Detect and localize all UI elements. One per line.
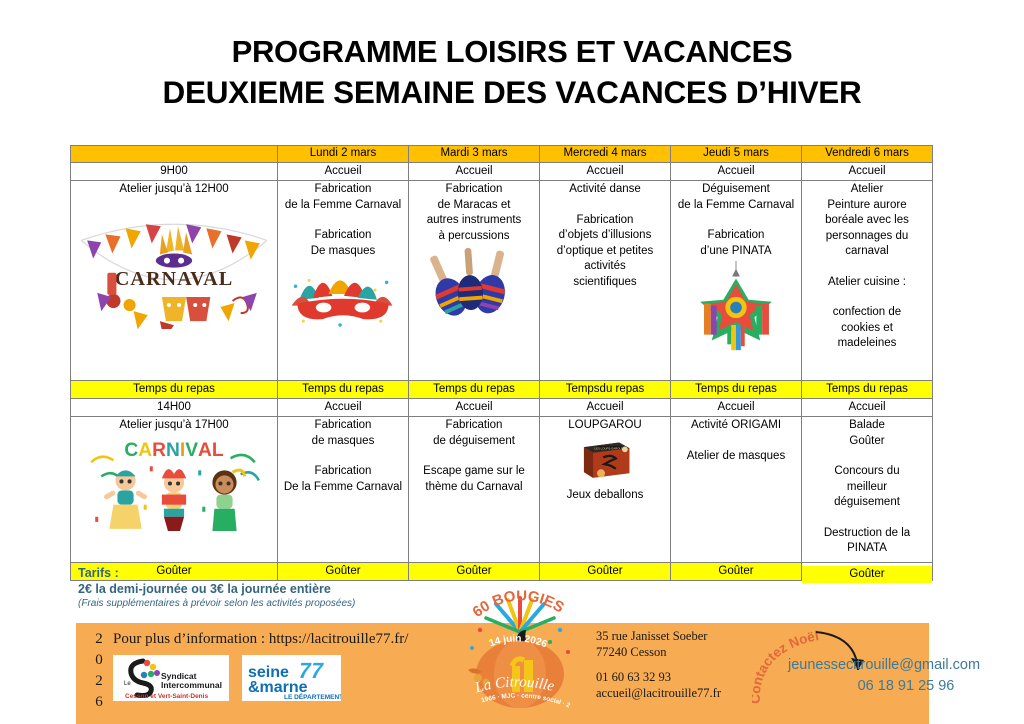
table-header-row: Lundi 2 mars Mardi 3 mars Mercredi 4 mar… (71, 146, 933, 163)
morning-vendredi-line-2: boréale avec les (804, 213, 930, 229)
morning-time-label: 9H00 (71, 163, 278, 181)
morning-greeting-mardi: Accueil (409, 163, 540, 181)
morning-vendredi-line-0: Atelier (804, 182, 930, 198)
afternoon-vendredi-spacer-2 (804, 511, 930, 526)
syndicat-logo-line3: Intercommunal (161, 680, 222, 690)
morning-cell-lundi: Fabrication de la Femme Carnaval Fabrica… (278, 181, 409, 381)
afternoon-greeting-mardi: Accueil (409, 399, 540, 417)
morning-greeting-mercredi: Accueil (540, 163, 671, 181)
afternoon-mercredi-line-0: LOUPGAROU (542, 418, 668, 434)
afternoon-jeudi-line-2: Atelier de masques (673, 449, 799, 465)
program-table: Lundi 2 mars Mardi 3 mars Mercredi 4 mar… (70, 145, 933, 581)
afternoon-time-sub: Atelier jusqu’à 17H00 (73, 418, 275, 434)
contact-email[interactable]: jeunessecitrouille@gmail.com (788, 655, 1024, 676)
afternoon-mardi-spacer (411, 449, 537, 464)
afternoon-cell-mercredi: LOUPGAROU LES LOUPS-GAROUS Jeux deballon… (540, 417, 671, 563)
title-line-1: PROGRAMME LOISIRS ET VACANCES (0, 32, 1024, 72)
meal-cell-mercredi: Tempsdu repas (540, 381, 671, 399)
afternoon-greeting-mercredi: Accueil (540, 399, 671, 417)
morning-cell-jeudi: Déguisement de la Femme Carnaval Fabrica… (671, 181, 802, 381)
morning-mercredi-line-6: scientifiques (542, 275, 668, 291)
morning-mardi-line-2: autres instruments (411, 213, 537, 229)
meal-cell-jeudi: Temps du repas (671, 381, 802, 399)
morning-greeting-lundi: Accueil (278, 163, 409, 181)
page-title: PROGRAMME LOISIRS ET VACANCES DEUXIEME S… (0, 32, 1024, 112)
morning-lundi-spacer (280, 213, 406, 228)
morning-mercredi-line-5: activités (542, 259, 668, 275)
morning-mercredi-line-3: d’objets d’illusions (542, 228, 668, 244)
header-cell-mercredi: Mercredi 4 mars (540, 146, 671, 163)
meal-cell-vendredi: Temps du repas (802, 381, 933, 399)
afternoon-lundi-line-1: de masques (280, 434, 406, 450)
maracas-illustration (411, 246, 537, 327)
header-cell-lundi: Lundi 2 mars (278, 146, 409, 163)
afternoon-cell-lundi: Fabrication de masques Fabrication De la… (278, 417, 409, 563)
afternoon-vendredi-line-0: Balade (804, 418, 930, 434)
afternoon-lundi-spacer (280, 449, 406, 464)
footer-year-digit-2: 2 (86, 671, 112, 692)
morning-cell-mercredi: Activité danse Fabrication d’objets d’il… (540, 181, 671, 381)
footer-year-digit-1: 0 (86, 650, 112, 671)
afternoon-vendredi-line-1: Goûter (804, 434, 930, 450)
tarifs-block: Tarifs : 2€ la demi-journée ou 3€ la jou… (78, 565, 498, 611)
header-cell-vendredi: Vendredi 6 mars (802, 146, 933, 163)
afternoon-lundi-line-0: Fabrication (280, 418, 406, 434)
morning-mercredi-line-4: d’optique et petites (542, 244, 668, 260)
afternoon-mardi-line-0: Fabrication (411, 418, 537, 434)
partner-logos: Le Syndicat Intercommunal Cesson et Vert… (113, 655, 341, 701)
address-phone: 01 60 63 32 93 (596, 669, 721, 685)
address-street: 35 rue Janisset Soeber (596, 628, 721, 644)
morning-mercredi-line-0: Activité danse (542, 182, 668, 198)
morning-jeudi-line-4: d’une PINATA (673, 244, 799, 260)
tarifs-note: (Frais supplémentaires à prévoir selon l… (78, 597, 498, 611)
morning-mercredi-spacer (542, 198, 668, 213)
footer-year: 2 0 2 6 (86, 629, 112, 713)
svg-text:CARNAVAL: CARNAVAL (115, 267, 233, 289)
carnival-kids-illustration: CARNIVAL (73, 436, 275, 537)
header-cell-time (71, 146, 278, 163)
seine-et-marne-logo: seine &marne 77 LE DÉPARTEMENT (242, 655, 341, 701)
morning-cell-mardi: Fabrication de Maracas et autres instrum… (409, 181, 540, 381)
morning-lundi-line-4: De masques (280, 244, 406, 260)
morning-vendredi-line-9: madeleines (804, 336, 930, 352)
meal-cell-lundi: Temps du repas (278, 381, 409, 399)
morning-vendredi-line-6: Atelier cuisine : (804, 275, 930, 291)
morning-vendredi-line-8: cookies et (804, 321, 930, 337)
morning-mardi-line-1: de Maracas et (411, 198, 537, 214)
morning-mercredi-line-2: Fabrication (542, 213, 668, 229)
address-city: 77240 Cesson (596, 644, 721, 660)
syndicat-logo-line1: Le (124, 681, 131, 687)
afternoon-vendredi-line-3: Concours du (804, 464, 930, 480)
afternoon-lundi-line-4: De la Femme Carnaval (280, 480, 406, 496)
morning-jeudi-line-1: de la Femme Carnaval (673, 198, 799, 214)
afternoon-jeudi-line-0: Activité ORIGAMI (673, 418, 799, 434)
snack-cell-jeudi: Goûter (671, 563, 802, 581)
afternoon-vendredi-line-4: meilleur (804, 480, 930, 496)
svg-text:CARNIVAL: CARNIVAL (124, 440, 223, 461)
morning-cell-vendredi: Atelier Peinture aurore boréale avec les… (802, 181, 933, 381)
afternoon-activities-row: Atelier jusqu’à 17H00 CARNIVAL (71, 417, 933, 563)
seine-logo-line3: LE DÉPARTEMENT (284, 692, 341, 701)
address-email[interactable]: accueil@lacitrouille77.fr (596, 685, 721, 701)
afternoon-vendredi-line-5: déguisement (804, 495, 930, 511)
afternoon-cell-vendredi: Balade Goûter Concours du meilleur dégui… (802, 417, 933, 563)
carnival-mask-illustration (280, 261, 406, 329)
header-cell-jeudi: Jeudi 5 mars (671, 146, 802, 163)
morning-vendredi-line-1: Peinture aurore (804, 198, 930, 214)
morning-mardi-line-0: Fabrication (411, 182, 537, 198)
morning-lundi-line-3: Fabrication (280, 228, 406, 244)
tarifs-price: 2€ la demi-journée ou 3€ la journée enti… (78, 581, 498, 597)
afternoon-mardi-line-4: thème du Carnaval (411, 480, 537, 496)
title-line-2: DEUXIEME SEMAINE DES VACANCES D’HIVER (0, 72, 1024, 112)
morning-vendredi-line-7: confection de (804, 305, 930, 321)
morning-vendredi-line-3: personnages du (804, 229, 930, 245)
morning-greeting-jeudi: Accueil (671, 163, 802, 181)
afternoon-vendredi-line-7: Destruction de la (804, 526, 930, 542)
contact-details: jeunessecitrouille@gmail.com 06 18 91 25… (788, 655, 1024, 697)
afternoon-cell-jeudi: Activité ORIGAMI Atelier de masques (671, 417, 802, 563)
afternoon-mardi-line-1: de déguisement (411, 434, 537, 450)
afternoon-greeting-row: 14H00 Accueil Accueil Accueil Accueil Ac… (71, 399, 933, 417)
meal-cell-time: Temps du repas (71, 381, 278, 399)
afternoon-jeudi-spacer (673, 434, 799, 449)
footer-info-link[interactable]: Pour plus d’information : https://lacitr… (113, 631, 408, 648)
morning-time-sub: Atelier jusqu’à 12H00 (73, 182, 275, 198)
morning-vendredi-spacer-2 (804, 290, 930, 305)
morning-greeting-row: 9H00 Accueil Accueil Accueil Accueil Acc… (71, 163, 933, 181)
address-gap (596, 660, 721, 669)
afternoon-greeting-jeudi: Accueil (671, 399, 802, 417)
morning-vendredi-spacer (804, 260, 930, 275)
address-block: 35 rue Janisset Soeber 77240 Cesson 01 6… (596, 628, 721, 701)
morning-vendredi-line-4: carnaval (804, 244, 930, 260)
afternoon-mercredi-line-after-0: Jeux deballons (542, 488, 668, 504)
meal-row: Temps du repas Temps du repas Temps du r… (71, 381, 933, 399)
meal-cell-mardi: Temps du repas (409, 381, 540, 399)
footer-year-digit-3: 6 (86, 692, 112, 713)
afternoon-vendredi-line-8: PINATA (804, 541, 930, 557)
carnaval-banner-illustration: CARNAVAL (73, 200, 275, 329)
syndicat-intercommunal-logo: Le Syndicat Intercommunal Cesson et Vert… (113, 655, 229, 701)
afternoon-time-cell: Atelier jusqu’à 17H00 CARNIVAL (71, 417, 278, 563)
afternoon-greeting-vendredi: Accueil (802, 399, 933, 417)
morning-activities-row: Atelier jusqu’à 12H00 (71, 181, 933, 381)
afternoon-lundi-line-3: Fabrication (280, 464, 406, 480)
contact-phone: 06 18 91 25 96 (788, 676, 1024, 697)
footer-year-digit-0: 2 (86, 629, 112, 650)
morning-lundi-line-0: Fabrication (280, 182, 406, 198)
morning-lundi-line-1: de la Femme Carnaval (280, 198, 406, 214)
afternoon-vendredi-spacer (804, 449, 930, 464)
afternoon-mardi-line-3: Escape game sur le (411, 464, 537, 480)
morning-greeting-vendredi: Accueil (802, 163, 933, 181)
pinata-illustration (673, 261, 799, 354)
morning-jeudi-line-0: Déguisement (673, 182, 799, 198)
afternoon-cell-mardi: Fabrication de déguisement Escape game s… (409, 417, 540, 563)
loup-garou-game-box: LES LOUPS-GAROUS (568, 438, 642, 480)
morning-jeudi-line-3: Fabrication (673, 228, 799, 244)
svg-text:LES LOUPS-GAROUS: LES LOUPS-GAROUS (595, 446, 624, 450)
afternoon-time-label: 14H00 (71, 399, 278, 417)
bougies-citrouille-logo: 60 BOUGIES 14 juin 2026 La Citrouille 19… (452, 578, 588, 718)
syndicat-logo-line4: Cesson et Vert-Saint-Denis (125, 693, 208, 700)
snack-cell-vendredi: Goûter (802, 566, 933, 584)
morning-mardi-line-3: à percussions (411, 229, 537, 245)
tarifs-heading: Tarifs : (78, 565, 498, 581)
afternoon-greeting-lundi: Accueil (278, 399, 409, 417)
header-cell-mardi: Mardi 3 mars (409, 146, 540, 163)
morning-jeudi-spacer (673, 213, 799, 228)
morning-time-cell: Atelier jusqu’à 12H00 (71, 181, 278, 381)
